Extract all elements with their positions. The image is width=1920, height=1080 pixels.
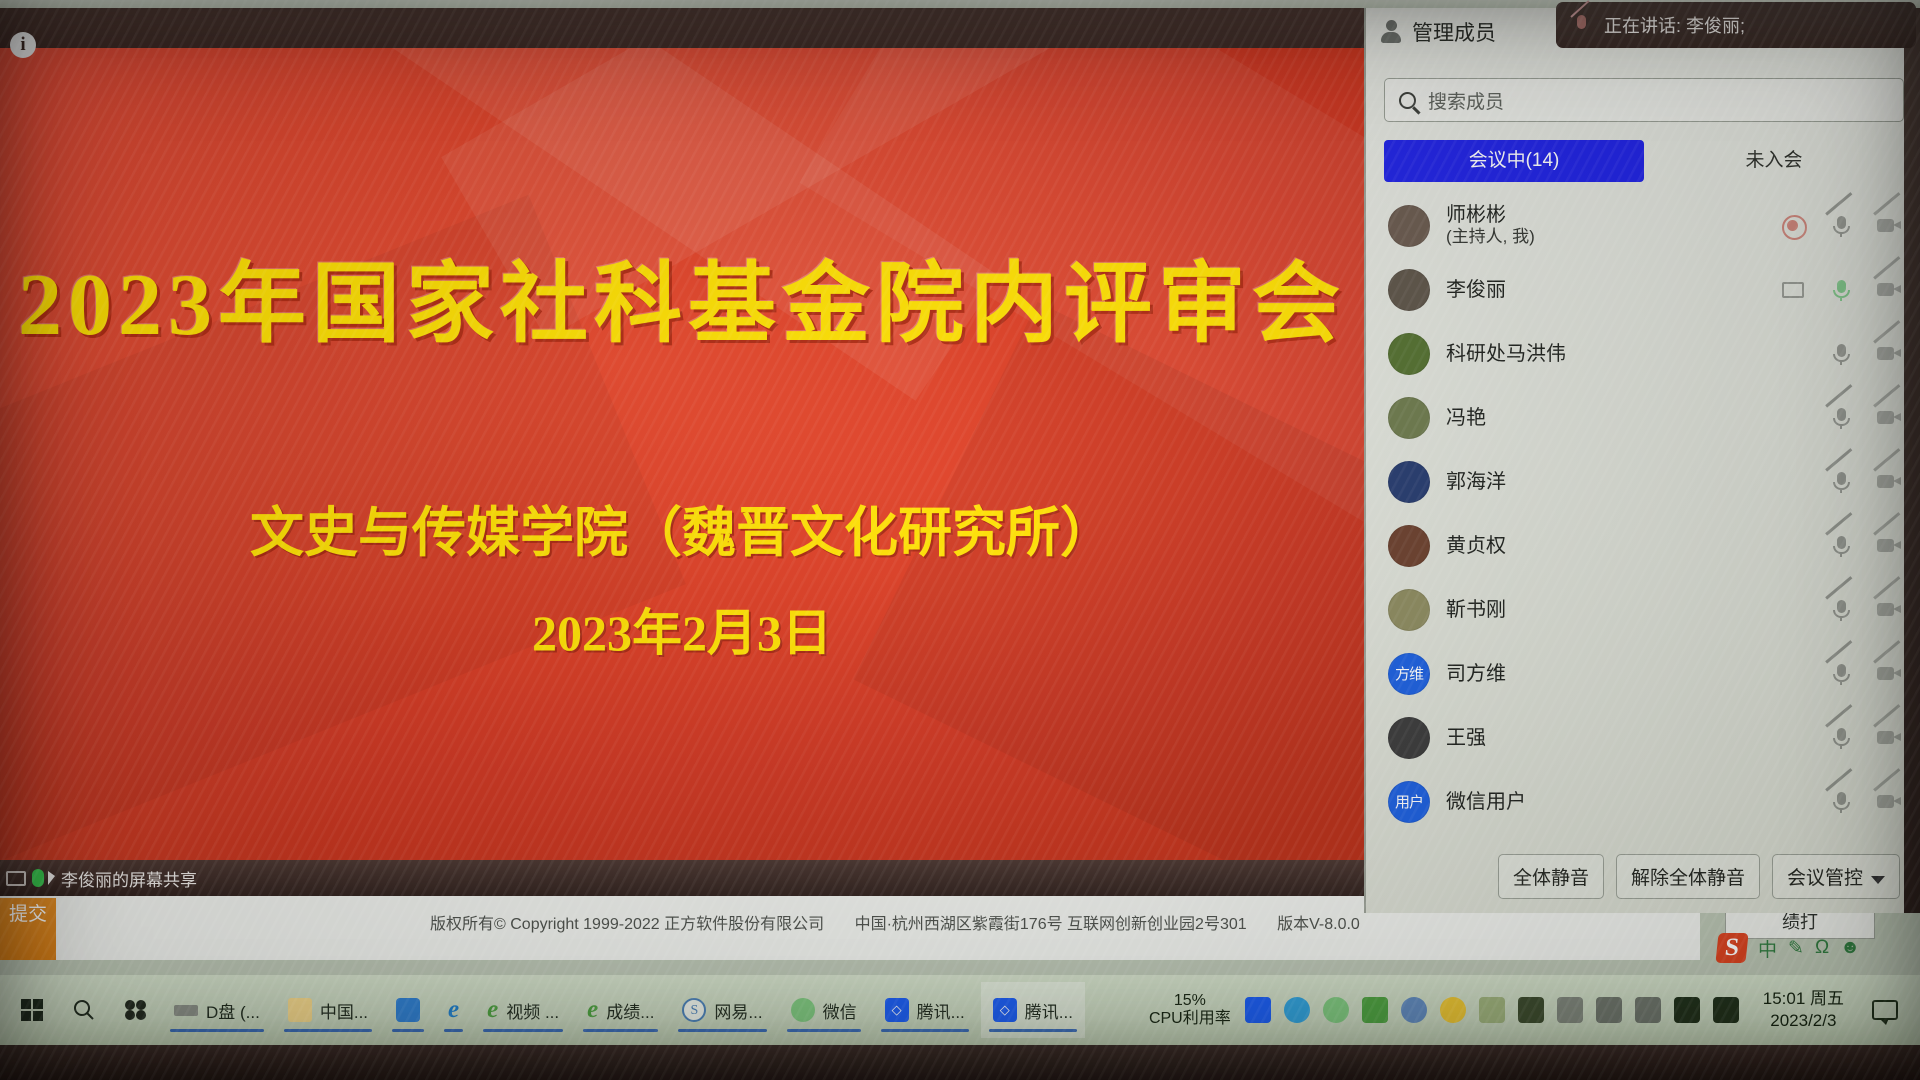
taskbar-item-indicator bbox=[170, 1029, 264, 1032]
cpu-label: CPU利用率 bbox=[1149, 1010, 1231, 1028]
participant-info: 冯艳 bbox=[1446, 407, 1486, 430]
tencent-meeting-icon: ◇ bbox=[885, 998, 909, 1022]
taskbar-item[interactable]: S网易... bbox=[670, 982, 774, 1038]
avatar bbox=[1388, 461, 1430, 503]
mic-muted-icon bbox=[1828, 214, 1854, 238]
monitor-bezel-bottom bbox=[0, 1045, 1920, 1080]
participant-info: 微信用户 bbox=[1446, 791, 1526, 814]
info-icon[interactable]: i bbox=[10, 32, 36, 58]
taskbar-item[interactable]: D盘 (... bbox=[162, 982, 272, 1038]
slide-title: 2023年国家社科基金院内评审会 bbox=[0, 233, 1364, 360]
sogou-icon: S bbox=[682, 998, 706, 1022]
participant-row[interactable]: 黄贞权 bbox=[1366, 514, 1920, 578]
slide-date: 2023年2月3日 bbox=[0, 593, 1364, 665]
avatar bbox=[1388, 205, 1430, 247]
mic-muted-icon bbox=[1828, 598, 1854, 622]
mic-muted-icon bbox=[1828, 406, 1854, 430]
mic-muted-icon bbox=[1828, 534, 1854, 558]
taskbar-clock[interactable]: 15:01 周五 2023/2/3 bbox=[1763, 988, 1844, 1032]
participant-row[interactable]: 王强 bbox=[1366, 706, 1920, 770]
recording-icon bbox=[1780, 214, 1806, 238]
360-icon[interactable] bbox=[1440, 997, 1466, 1023]
participant-name: 王强 bbox=[1446, 727, 1486, 750]
mic-off-icon bbox=[1828, 342, 1854, 366]
taskbar-item[interactable]: 中国... bbox=[276, 982, 380, 1038]
participant-status-icons bbox=[1780, 214, 1902, 238]
sogou-logo-icon[interactable]: S bbox=[1715, 933, 1748, 963]
camera-muted-icon bbox=[1876, 662, 1902, 686]
camera-muted-icon bbox=[1876, 214, 1902, 238]
avatar-initials: 方维 bbox=[1395, 666, 1423, 683]
taskbar-item-label: D盘 (... bbox=[206, 998, 260, 1023]
avatar: 用户 bbox=[1388, 781, 1430, 823]
keyboard-icon[interactable] bbox=[1635, 997, 1661, 1023]
system-tray[interactable] bbox=[1245, 997, 1739, 1023]
mic-on-icon bbox=[1828, 278, 1854, 302]
taskbar-item-indicator bbox=[483, 1029, 563, 1032]
participant-info: 科研处马洪伟 bbox=[1446, 343, 1566, 366]
taskbar-item-indicator bbox=[989, 1029, 1077, 1032]
avatar bbox=[1388, 525, 1430, 567]
participant-row[interactable]: 师彬彬(主持人, 我) bbox=[1366, 194, 1920, 258]
taskbar-item-indicator bbox=[678, 1029, 766, 1032]
omega-icon[interactable]: Ω bbox=[1815, 937, 1829, 959]
participant-list[interactable]: 师彬彬(主持人, 我)李俊丽科研处马洪伟冯艳郭海洋黄贞权靳书刚方维司方维王强用户… bbox=[1366, 194, 1920, 814]
participant-status-icons bbox=[1828, 470, 1902, 494]
participant-info: 司方维 bbox=[1446, 663, 1506, 686]
mic-muted-icon bbox=[1828, 470, 1854, 494]
right-dark-strip bbox=[1904, 8, 1920, 913]
camera-muted-icon bbox=[1876, 342, 1902, 366]
participant-name: 李俊丽 bbox=[1446, 279, 1506, 302]
tencent-meeting-icon: ◇ bbox=[993, 998, 1017, 1022]
participant-status-icons bbox=[1828, 726, 1902, 750]
taskbar-item[interactable]: ◇腾讯... bbox=[873, 982, 977, 1038]
panel-action-bar: 全体静音 解除全体静音 会议管控 bbox=[1366, 846, 1920, 906]
pen-icon[interactable]: ✎ bbox=[1788, 937, 1804, 960]
user-icon[interactable]: ☻ bbox=[1840, 937, 1860, 959]
taskbar-item[interactable]: ◇腾讯... bbox=[981, 982, 1085, 1038]
avatar-initials: 用户 bbox=[1395, 794, 1423, 811]
ie-icon: e bbox=[448, 998, 459, 1022]
participant-status-icons bbox=[1780, 278, 1902, 302]
participant-status-icons bbox=[1828, 406, 1902, 430]
screen-share-status-bar: 李俊丽的屏幕共享 bbox=[0, 860, 1364, 896]
panel-title: 管理成员 bbox=[1412, 17, 1496, 47]
camera-muted-icon bbox=[1876, 406, 1902, 430]
participant-status-icons bbox=[1828, 534, 1902, 558]
sogou-ime-bar[interactable]: S 中 ✎ Ω ☻ bbox=[1717, 930, 1860, 966]
wechat-tray-icon[interactable] bbox=[1323, 997, 1349, 1023]
shared-window-titlebar bbox=[0, 8, 1364, 48]
active-speaker-label: 正在讲话: 李俊丽; bbox=[1604, 12, 1745, 38]
participants-panel: 管理成员 搜索成员 会议中(14) 未入会 师彬彬(主持人, 我)李俊丽科研处马… bbox=[1364, 8, 1920, 913]
participant-info: 王强 bbox=[1446, 727, 1486, 750]
wechat-icon bbox=[791, 998, 815, 1022]
taskbar-left: D盘 (...中国...ee视频 ...e成绩...S网易...微信◇腾讯...… bbox=[0, 982, 1089, 1038]
taskbar-item[interactable]: e bbox=[436, 982, 471, 1038]
submit-tab[interactable]: 提交 bbox=[0, 898, 56, 960]
monitor-icon bbox=[6, 871, 26, 886]
nvidia-icon[interactable] bbox=[1518, 997, 1544, 1023]
participant-status-icons bbox=[1828, 598, 1902, 622]
footer-copyright: 版权所有© Copyright 1999-2022 正方软件股份有限公司 中国·… bbox=[430, 910, 1410, 934]
mic-muted-icon bbox=[1828, 726, 1854, 750]
participant-status-icons bbox=[1828, 662, 1902, 686]
taskbar-item-label: 中国... bbox=[320, 998, 368, 1023]
participant-name: 科研处马洪伟 bbox=[1446, 343, 1566, 366]
avatar bbox=[1388, 333, 1430, 375]
search-icon bbox=[1399, 92, 1416, 109]
presentation-slide: 2023年国家社科基金院内评审会 文史与传媒学院（魏晋文化研究所） 2023年2… bbox=[0, 48, 1364, 868]
shield-icon[interactable] bbox=[1479, 997, 1505, 1023]
mic-active-icon bbox=[32, 869, 44, 887]
avatar bbox=[1388, 269, 1430, 311]
camera-muted-icon bbox=[1876, 278, 1902, 302]
avatar bbox=[1388, 397, 1430, 439]
participant-row[interactable]: 冯艳 bbox=[1366, 386, 1920, 450]
taskbar-item-indicator bbox=[444, 1029, 463, 1032]
avatar bbox=[1388, 717, 1430, 759]
participant-info: 郭海洋 bbox=[1446, 471, 1506, 494]
search-placeholder: 搜索成员 bbox=[1428, 87, 1504, 114]
participant-role: (主持人, 我) bbox=[1446, 227, 1535, 247]
clock-time: 15:01 周五 bbox=[1763, 988, 1844, 1010]
ie-icon: e bbox=[487, 998, 498, 1022]
notification-icon[interactable] bbox=[1872, 1000, 1898, 1020]
person-icon bbox=[1380, 20, 1402, 44]
taskbar-item-label: 腾讯... bbox=[1025, 998, 1073, 1023]
participant-status-icons bbox=[1828, 790, 1902, 814]
participant-status-icons bbox=[1828, 342, 1902, 366]
task-view-icon[interactable] bbox=[110, 982, 162, 1038]
mic-tray-icon[interactable] bbox=[1596, 997, 1622, 1023]
meeting-control-button[interactable]: 会议管控 bbox=[1772, 854, 1900, 899]
shared-screen-region: 2023年国家社科基金院内评审会 文史与传媒学院（魏晋文化研究所） 2023年2… bbox=[0, 8, 1364, 868]
participant-info: 师彬彬(主持人, 我) bbox=[1446, 204, 1535, 247]
avatar: 方维 bbox=[1388, 653, 1430, 695]
taskbar-tasks: D盘 (...中国...ee视频 ...e成绩...S网易...微信◇腾讯...… bbox=[162, 982, 1089, 1038]
copyright-text: 版权所有© Copyright 1999-2022 正方软件股份有限公司 bbox=[430, 916, 824, 933]
cpu-usage-indicator: 15% CPU利用率 bbox=[1149, 992, 1231, 1029]
printer-icon[interactable] bbox=[1557, 997, 1583, 1023]
participant-name: 冯艳 bbox=[1446, 407, 1486, 430]
participant-name: 微信用户 bbox=[1446, 791, 1526, 814]
taskbar-item-indicator bbox=[881, 1029, 969, 1032]
panel-tabs: 会议中(14) 未入会 bbox=[1384, 140, 1904, 182]
volume-icon[interactable] bbox=[1713, 997, 1739, 1023]
camera-muted-icon bbox=[1876, 726, 1902, 750]
slide-subtitle: 文史与传媒学院（魏晋文化研究所） bbox=[0, 488, 1364, 567]
onedrive-icon[interactable] bbox=[1284, 997, 1310, 1023]
drive-icon bbox=[174, 1005, 198, 1016]
taskbar-item-label: 微信 bbox=[823, 998, 857, 1023]
taskbar-right: 15% CPU利用率 15:01 周五 2023/2/3 bbox=[1149, 988, 1920, 1032]
camera-muted-icon bbox=[1876, 790, 1902, 814]
participant-info: 李俊丽 bbox=[1446, 279, 1506, 302]
participant-name: 靳书刚 bbox=[1446, 599, 1506, 622]
tab-not-joined[interactable]: 未入会 bbox=[1644, 140, 1904, 182]
participant-row[interactable]: 李俊丽 bbox=[1366, 258, 1920, 322]
participant-info: 黄贞权 bbox=[1446, 535, 1506, 558]
explorer-icon bbox=[396, 998, 420, 1022]
avatar bbox=[1388, 589, 1430, 631]
tencent-meeting-tray-icon[interactable] bbox=[1245, 997, 1271, 1023]
version-text: 版本V-8.0.0 bbox=[1277, 916, 1360, 933]
taskbar-item-indicator bbox=[284, 1029, 372, 1032]
participant-row[interactable]: 靳书刚 bbox=[1366, 578, 1920, 642]
taskbar-item-label: 腾讯... bbox=[917, 998, 965, 1023]
clock-date: 2023/2/3 bbox=[1763, 1010, 1844, 1032]
taskbar-item-indicator bbox=[392, 1029, 424, 1032]
mic-muted-icon bbox=[1828, 662, 1854, 686]
sogou-tray-icon[interactable] bbox=[1401, 997, 1427, 1023]
participant-name: 司方维 bbox=[1446, 663, 1506, 686]
folder-icon bbox=[288, 998, 312, 1022]
windows-taskbar[interactable]: D盘 (...中国...ee视频 ...e成绩...S网易...微信◇腾讯...… bbox=[0, 975, 1920, 1045]
taskbar-item-label: 网易... bbox=[714, 998, 762, 1023]
search-icon[interactable] bbox=[58, 982, 110, 1038]
participant-name: 师彬彬 bbox=[1446, 204, 1535, 227]
participant-name: 郭海洋 bbox=[1446, 471, 1506, 494]
taskbar-item-label: 视频 ... bbox=[506, 998, 559, 1023]
camera-muted-icon bbox=[1876, 598, 1902, 622]
ime-mode-toggle[interactable]: 中 bbox=[1758, 935, 1777, 962]
screen-photo: 2023年国家社科基金院内评审会 文史与传媒学院（魏晋文化研究所） 2023年2… bbox=[0, 0, 1920, 1080]
camera-muted-icon bbox=[1876, 534, 1902, 558]
participant-name: 黄贞权 bbox=[1446, 535, 1506, 558]
camera-muted-icon bbox=[1876, 470, 1902, 494]
mic-muted-icon bbox=[1828, 790, 1854, 814]
taskbar-item-indicator bbox=[787, 1029, 861, 1032]
ie-icon: e bbox=[587, 998, 598, 1022]
ie-tray-icon[interactable] bbox=[1362, 997, 1388, 1023]
participant-info: 靳书刚 bbox=[1446, 599, 1506, 622]
taskbar-item-indicator bbox=[583, 1029, 658, 1032]
participant-row[interactable]: 科研处马洪伟 bbox=[1366, 322, 1920, 386]
cpu-percent: 15% bbox=[1149, 992, 1231, 1010]
screen-share-label: 李俊丽的屏幕共享 bbox=[61, 866, 197, 891]
share-screen-icon bbox=[1780, 278, 1806, 302]
taskbar-item[interactable]: e视频 ... bbox=[475, 982, 571, 1038]
network-icon[interactable] bbox=[1674, 997, 1700, 1023]
cursor-icon bbox=[48, 871, 55, 885]
taskbar-item[interactable]: e成绩... bbox=[575, 982, 666, 1038]
taskbar-item-label: 成绩... bbox=[606, 998, 654, 1023]
participant-row[interactable]: 用户微信用户 bbox=[1366, 770, 1920, 834]
windows-icon[interactable] bbox=[6, 982, 58, 1038]
tab-in-meeting[interactable]: 会议中(14) bbox=[1384, 140, 1644, 182]
participant-row[interactable]: 郭海洋 bbox=[1366, 450, 1920, 514]
unmute-all-button[interactable]: 解除全体静音 bbox=[1616, 854, 1760, 899]
participant-row[interactable]: 方维司方维 bbox=[1366, 642, 1920, 706]
address-text: 中国·杭州西湖区紫霞街176号 互联网创新创业园2号301 bbox=[855, 916, 1247, 933]
taskbar-item[interactable]: 微信 bbox=[779, 982, 869, 1038]
mute-all-button[interactable]: 全体静音 bbox=[1498, 854, 1604, 899]
search-members-input[interactable]: 搜索成员 bbox=[1384, 78, 1904, 122]
active-speaker-banner: 正在讲话: 李俊丽; bbox=[1556, 2, 1916, 48]
mic-muted-icon bbox=[1572, 14, 1592, 36]
taskbar-item[interactable] bbox=[384, 982, 432, 1038]
chevron-down-icon bbox=[1871, 876, 1885, 884]
